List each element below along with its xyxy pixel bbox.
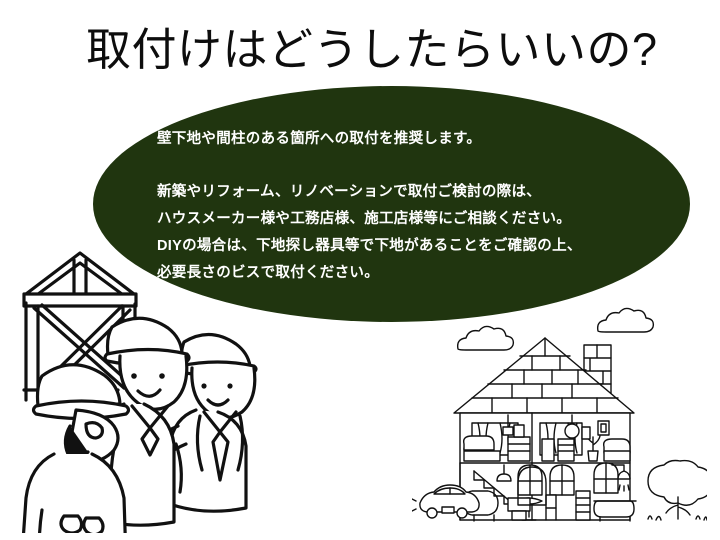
- tree-icon: [648, 461, 707, 520]
- callout-body-line-1: 新築やリフォーム、リノベーションで取付ご検討の際は、: [157, 179, 657, 206]
- worker-left-figure: [22, 365, 129, 533]
- cloud-left-icon: [458, 326, 514, 350]
- slide-canvas: 取付けはどうしたらいいの? 壁下地や間柱のある箇所への取付を推奨します。 新築や…: [0, 0, 720, 540]
- callout-lead-line: 壁下地や間柱のある箇所への取付を推奨します。: [157, 126, 657, 153]
- workers-illustration: [8, 248, 258, 533]
- page-title: 取付けはどうしたらいいの?: [86, 22, 686, 78]
- callout-body-line-2: ハウスメーカー様や工務店様、施工店様等にご相談ください。: [157, 206, 657, 233]
- cloud-right-icon: [598, 308, 654, 332]
- house-illustration: [412, 305, 707, 530]
